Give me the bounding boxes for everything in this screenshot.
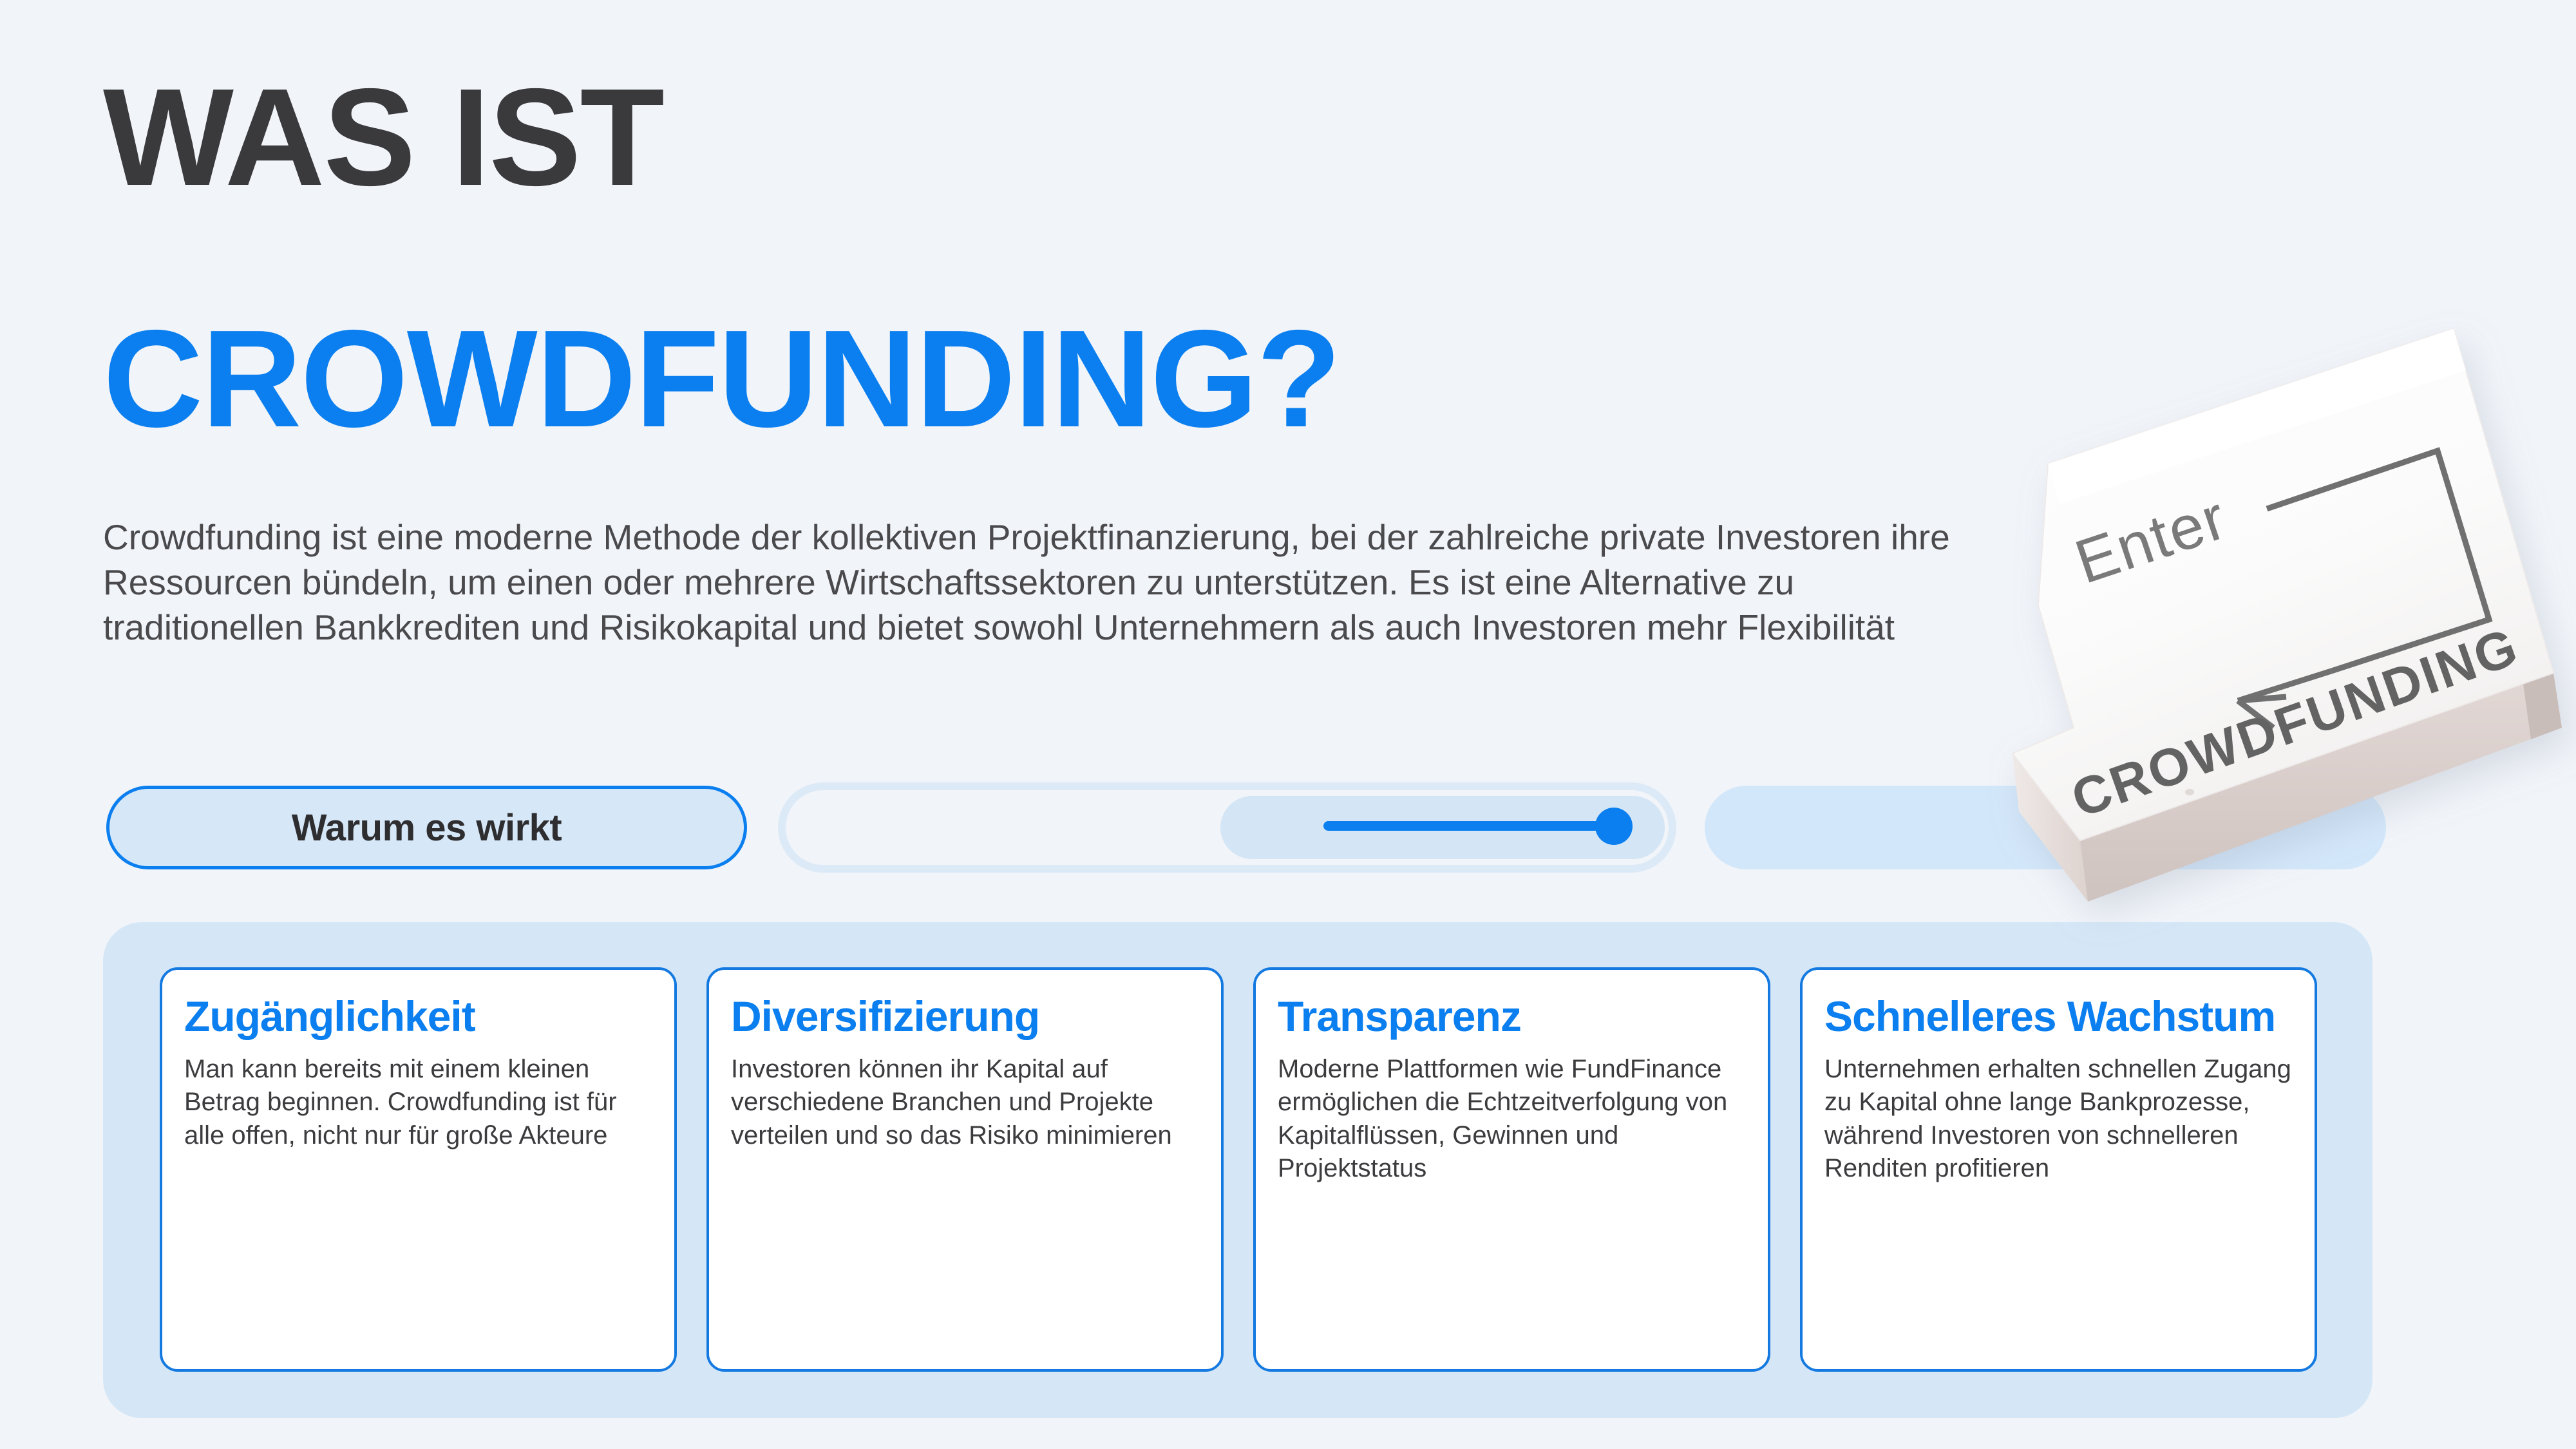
page-title-line-2: CROWDFUNDING? <box>103 309 1340 448</box>
feature-card-title: Schnelleres Wachstum <box>1824 994 2293 1039</box>
feature-card-body: Investoren können ihr Kapital auf versch… <box>731 1053 1199 1152</box>
feature-card-title: Transparenz <box>1278 994 1746 1039</box>
feature-card[interactable]: Transparenz Moderne Plattformen wie Fund… <box>1253 967 1770 1372</box>
feature-card-title: Zugänglichkeit <box>184 994 652 1039</box>
feature-card-title: Diversifizierung <box>731 994 1199 1039</box>
slider-inner-track <box>786 790 1669 865</box>
tab-label: Warum es wirkt <box>292 806 562 849</box>
feature-card-body: Unternehmen erhalten schnellen Zugang zu… <box>1824 1053 2293 1185</box>
keycap-enter-label: Enter <box>2067 482 2235 596</box>
tab-placeholder-right[interactable] <box>1705 786 2386 869</box>
feature-card-body: Man kann bereits mit einem kleinen Betra… <box>184 1053 652 1152</box>
poster-canvas: WAS IST CROWDFUNDING? Crowdfunding ist e… <box>0 0 2576 1449</box>
intro-paragraph: Crowdfunding ist eine moderne Methode de… <box>103 515 1958 650</box>
control-row: Warum es wirkt <box>106 786 2386 869</box>
feature-card-body: Moderne Plattformen wie FundFinance ermö… <box>1278 1053 1746 1185</box>
slider-container[interactable] <box>778 782 1676 873</box>
enter-keycap-illustration: Enter CROWDFUNDING <box>1887 303 2576 1024</box>
page-title-line-1: WAS IST <box>103 68 663 206</box>
feature-card[interactable]: Diversifizierung Investoren können ihr K… <box>706 967 1224 1372</box>
feature-panel: Zugänglichkeit Man kann bereits mit eine… <box>103 922 2372 1418</box>
tab-warum-es-wirkt[interactable]: Warum es wirkt <box>106 786 747 869</box>
slider-thumb[interactable] <box>1595 808 1633 845</box>
feature-card-list: Zugänglichkeit Man kann bereits mit eine… <box>160 967 2317 1372</box>
slider-filled-range <box>1323 821 1613 831</box>
feature-card[interactable]: Zugänglichkeit Man kann bereits mit eine… <box>160 967 677 1372</box>
feature-card[interactable]: Schnelleres Wachstum Unternehmen erhalte… <box>1800 967 2317 1372</box>
